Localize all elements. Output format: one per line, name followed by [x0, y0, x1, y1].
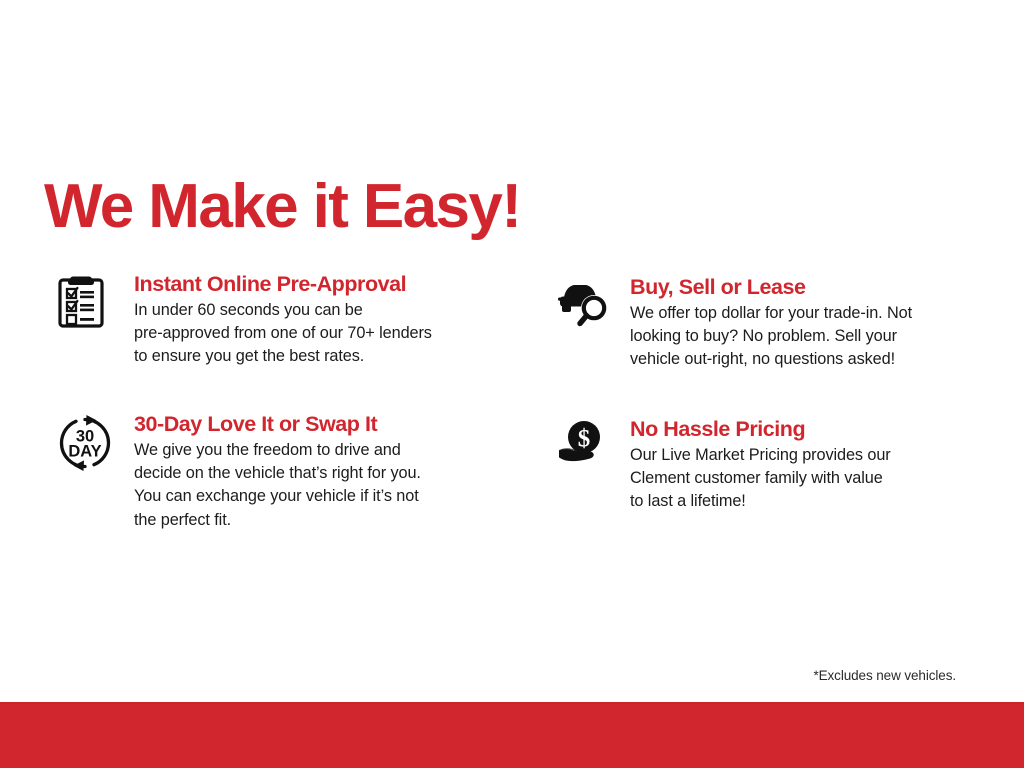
feature-body: 30-Day Love It or Swap It We give you th… — [118, 412, 421, 532]
feature-text: Our Live Market Pricing provides our Cle… — [630, 444, 891, 513]
feature-body: Instant Online Pre-Approval In under 60 … — [118, 272, 432, 369]
feature-title: 30-Day Love It or Swap It — [134, 412, 421, 436]
feature-title: No Hassle Pricing — [630, 417, 891, 441]
svg-text:$: $ — [578, 426, 591, 453]
footnote-disclaimer: *Excludes new vehicles. — [813, 668, 956, 683]
hand-holding-coin-icon: $ — [556, 417, 618, 514]
feature-block-instant-online-pre-approval: Instant Online Pre-Approval In under 60 … — [56, 272, 526, 369]
car-magnifier-icon — [556, 275, 618, 372]
feature-title: Buy, Sell or Lease — [630, 275, 912, 299]
feature-block-30-day-love-it-or-swap-it: 30 DAY 30-Day Love It or Swap It We give… — [56, 412, 526, 532]
slide-canvas: We Make it Easy! — [0, 0, 1024, 768]
feature-title: Instant Online Pre-Approval — [134, 272, 432, 296]
feature-body: No Hassle Pricing Our Live Market Pricin… — [618, 417, 891, 514]
feature-text: In under 60 seconds you can be pre-appro… — [134, 299, 432, 368]
feature-block-no-hassle-pricing: $ No Hassle Pricing Our Live Market Pric… — [556, 417, 1016, 514]
feature-body: Buy, Sell or Lease We offer top dollar f… — [618, 275, 912, 372]
page-title: We Make it Easy! — [44, 176, 520, 238]
icon-label-bottom: DAY — [68, 443, 101, 461]
clipboard-checklist-icon — [56, 272, 118, 369]
feature-text: We offer top dollar for your trade-in. N… — [630, 302, 912, 371]
thirty-day-cycle-icon: 30 DAY — [56, 412, 118, 532]
footer-bar — [0, 702, 1024, 768]
feature-block-buy-sell-or-lease: Buy, Sell or Lease We offer top dollar f… — [556, 275, 1016, 372]
feature-text: We give you the freedom to drive and dec… — [134, 439, 421, 532]
footer-bar-top-edge — [0, 702, 1024, 704]
